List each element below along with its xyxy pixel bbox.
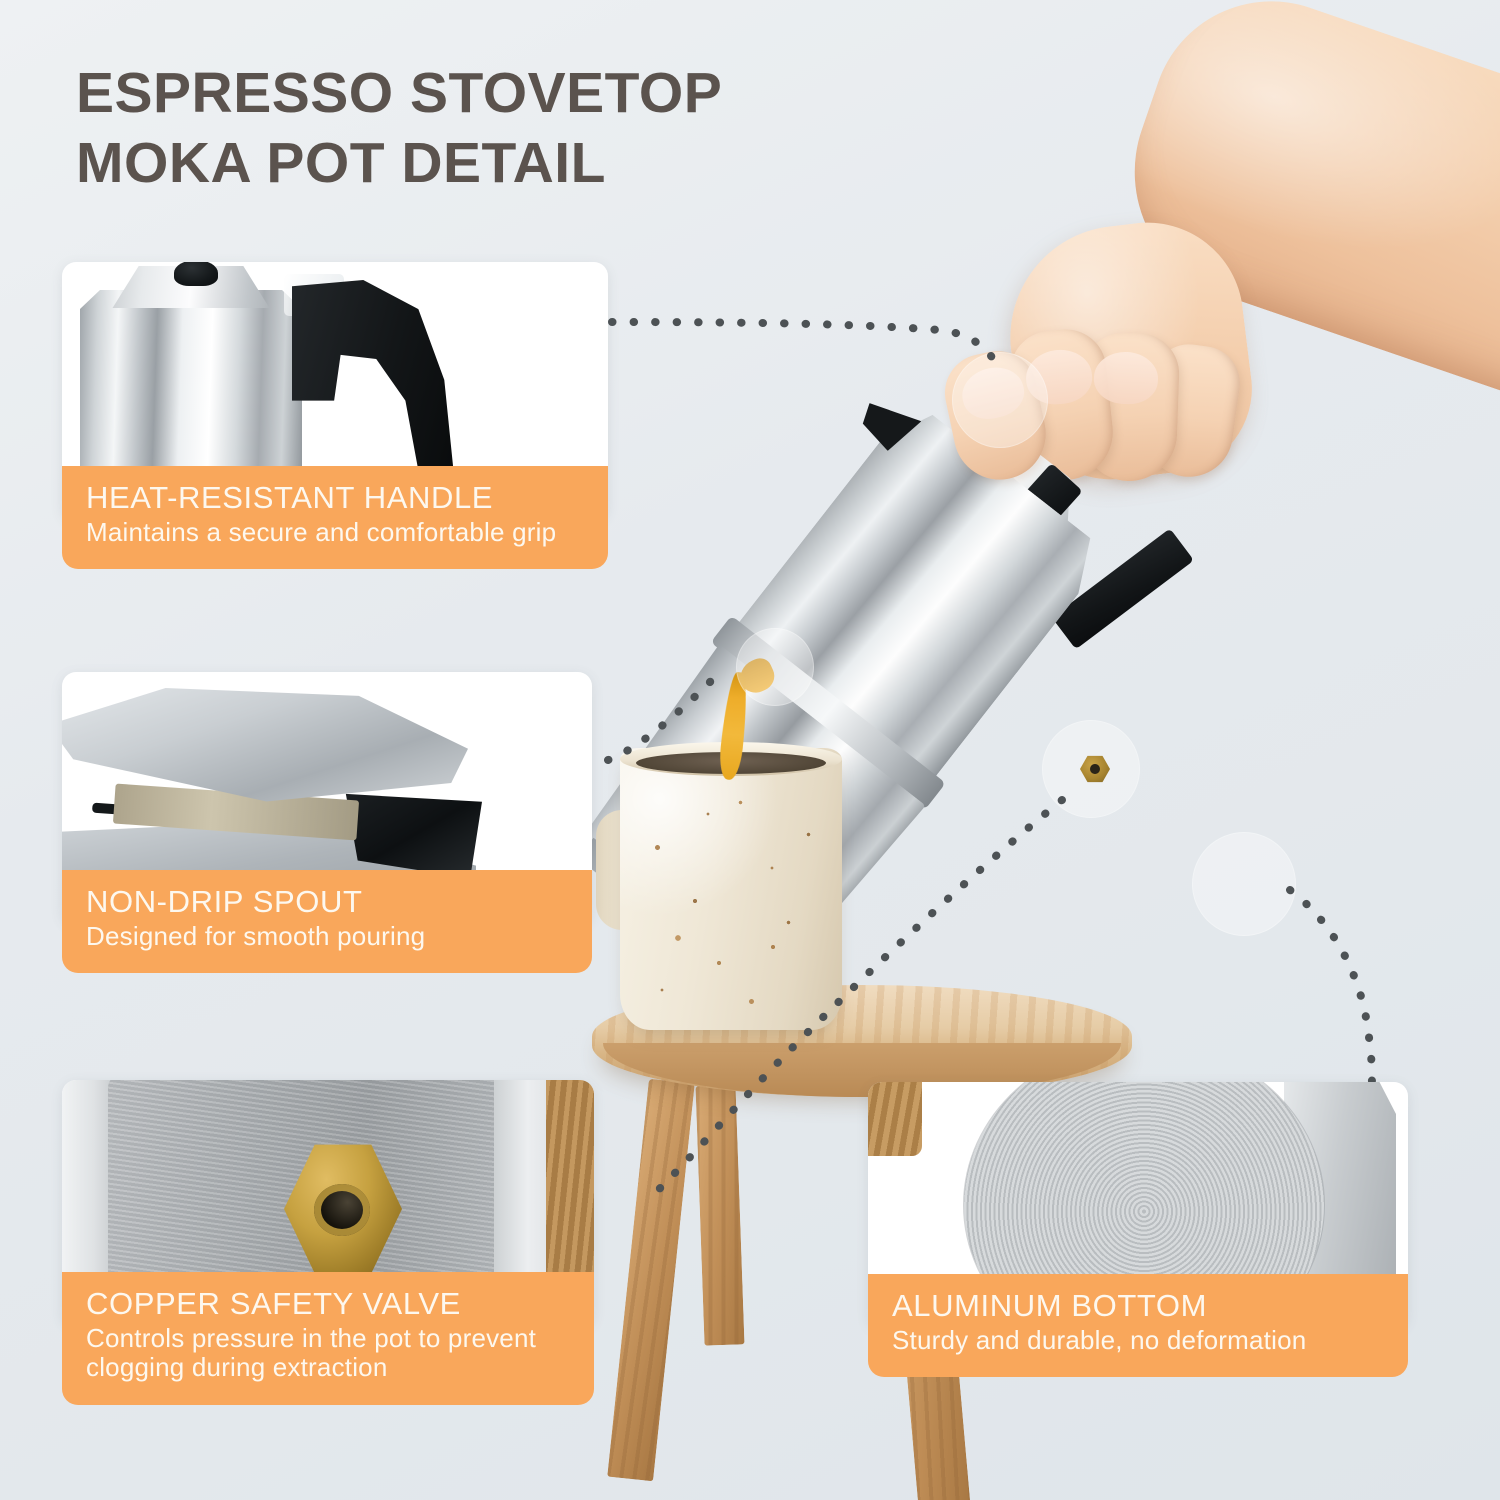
speckled-ceramic-cup bbox=[620, 748, 842, 1030]
callout-description: Maintains a secure and comfortable grip bbox=[86, 518, 586, 548]
spout-hotspot bbox=[736, 628, 814, 706]
callout-banner-aluminum-bottom: ALUMINUM BOTTOM Sturdy and durable, no d… bbox=[868, 1274, 1408, 1377]
pot-lid-knob bbox=[174, 262, 218, 286]
callout-card-non-drip-spout[interactable]: NON-DRIP SPOUT Designed for smooth pouri… bbox=[62, 672, 592, 973]
callout-card-copper-safety-valve[interactable]: COPPER SAFETY VALVE Controls pressure in… bbox=[62, 1080, 594, 1405]
callout-title: COPPER SAFETY VALVE bbox=[86, 1288, 572, 1321]
callout-description: Controls pressure in the pot to prevent … bbox=[86, 1324, 572, 1383]
callout-title: NON-DRIP SPOUT bbox=[86, 886, 570, 919]
page-title: ESPRESSO STOVETOP MOKA POT DETAIL bbox=[76, 58, 936, 198]
callout-card-aluminum-bottom[interactable]: ALUMINUM BOTTOM Sturdy and durable, no d… bbox=[868, 1082, 1408, 1377]
stool-leg-middle bbox=[695, 1084, 744, 1345]
stool-leg-left bbox=[607, 1079, 695, 1482]
wooden-background bbox=[868, 1082, 922, 1156]
callout-description: Designed for smooth pouring bbox=[86, 922, 570, 952]
callout-banner-non-drip-spout: NON-DRIP SPOUT Designed for smooth pouri… bbox=[62, 870, 592, 973]
callout-card-heat-resistant-handle[interactable]: HEAT-RESISTANT HANDLE Maintains a secure… bbox=[62, 262, 608, 569]
infographic-canvas: ESPRESSO STOVETOP MOKA POT DETAIL HEAT-R… bbox=[0, 0, 1500, 1500]
callout-title: HEAT-RESISTANT HANDLE bbox=[86, 482, 586, 515]
callout-title: ALUMINUM BOTTOM bbox=[892, 1290, 1386, 1323]
callout-banner-heat-resistant-handle: HEAT-RESISTANT HANDLE Maintains a secure… bbox=[62, 466, 608, 569]
callout-banner-copper-safety-valve: COPPER SAFETY VALVE Controls pressure in… bbox=[62, 1272, 594, 1405]
black-handle bbox=[292, 280, 454, 488]
callout-description: Sturdy and durable, no deformation bbox=[892, 1326, 1386, 1356]
bottom-hotspot bbox=[1192, 832, 1296, 936]
valve-bore bbox=[314, 1184, 370, 1236]
handle-hotspot bbox=[952, 352, 1048, 448]
